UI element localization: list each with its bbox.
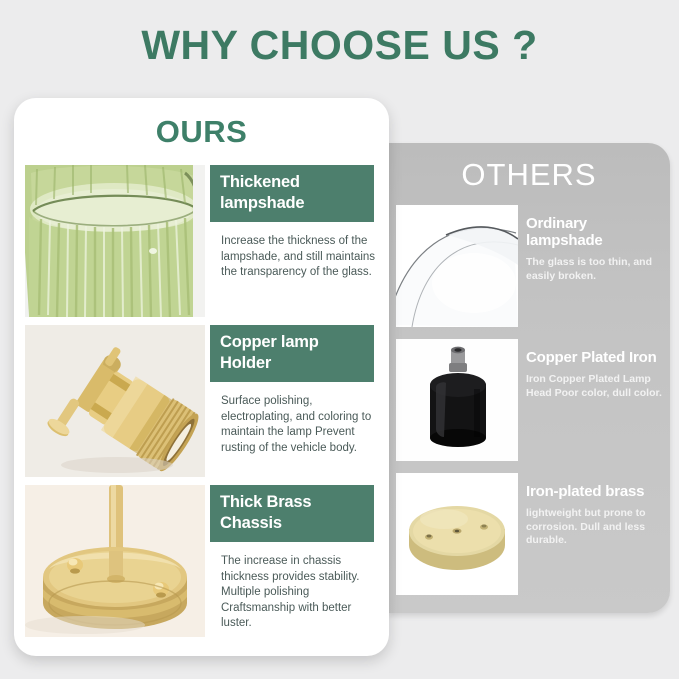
comparison-infographic: WHY CHOOSE US ? OTHERS Ordinary lampshad…	[0, 0, 679, 679]
ours-card: OURS	[14, 98, 389, 656]
others-item-2-text: Iron-plated brass lightweight but prone …	[526, 483, 666, 548]
ours-item-1-text: Copper lamp Holder Surface polishing, el…	[210, 325, 380, 456]
green-ribbed-glass-lampshade-image	[25, 165, 205, 317]
ours-item-1: Copper lamp Holder Surface polishing, el…	[14, 325, 389, 485]
brass-chassis-base-image	[25, 485, 205, 637]
others-heading: OTHERS	[388, 157, 670, 193]
ours-item-2-text: Thick Brass Chassis The increase in chas…	[210, 485, 380, 632]
ours-item-1-title: Copper lamp Holder	[210, 325, 374, 382]
others-item-1-text: Copper Plated Iron Iron Copper Plated La…	[526, 349, 666, 400]
brass-lamp-holder-image	[25, 325, 205, 477]
gold-plated-ceiling-plate-image	[396, 473, 518, 595]
ours-item-1-desc: Surface polishing, electroplating, and c…	[210, 394, 380, 456]
black-lamp-holder-image	[396, 339, 518, 461]
others-panel: OTHERS Ordinary lampshade The glass is t…	[388, 143, 670, 613]
ours-heading: OURS	[14, 114, 389, 150]
others-item-1-desc: Iron Copper Plated Lamp Head Poor color,…	[526, 373, 666, 400]
others-item-2-desc: lightweight but prone to corrosion. Dull…	[526, 507, 666, 548]
ours-item-2: Thick Brass Chassis The increase in chas…	[14, 485, 389, 645]
clear-glass-dome-image	[396, 205, 518, 327]
others-item-2: Iron-plated brass lightweight but prone …	[388, 473, 670, 598]
others-item-0-title: Ordinary lampshade	[526, 215, 666, 249]
others-item-0-text: Ordinary lampshade The glass is too thin…	[526, 215, 666, 283]
others-item-2-title: Iron-plated brass	[526, 483, 666, 500]
ours-item-2-desc: The increase in chassis thickness provid…	[210, 554, 380, 632]
others-item-0: Ordinary lampshade The glass is too thin…	[388, 205, 670, 330]
ours-item-0-desc: Increase the thickness of the lampshade,…	[210, 234, 380, 281]
ours-item-0: Thickened lampshade Increase the thickne…	[14, 165, 389, 325]
ours-item-2-title: Thick Brass Chassis	[210, 485, 374, 542]
page-title: WHY CHOOSE US ?	[0, 22, 679, 69]
others-item-1-title: Copper Plated Iron	[526, 349, 666, 366]
ours-item-0-text: Thickened lampshade Increase the thickne…	[210, 165, 380, 281]
ours-item-0-title: Thickened lampshade	[210, 165, 374, 222]
others-item-0-desc: The glass is too thin, and easily broken…	[526, 256, 666, 283]
others-item-1: Copper Plated Iron Iron Copper Plated La…	[388, 339, 670, 464]
